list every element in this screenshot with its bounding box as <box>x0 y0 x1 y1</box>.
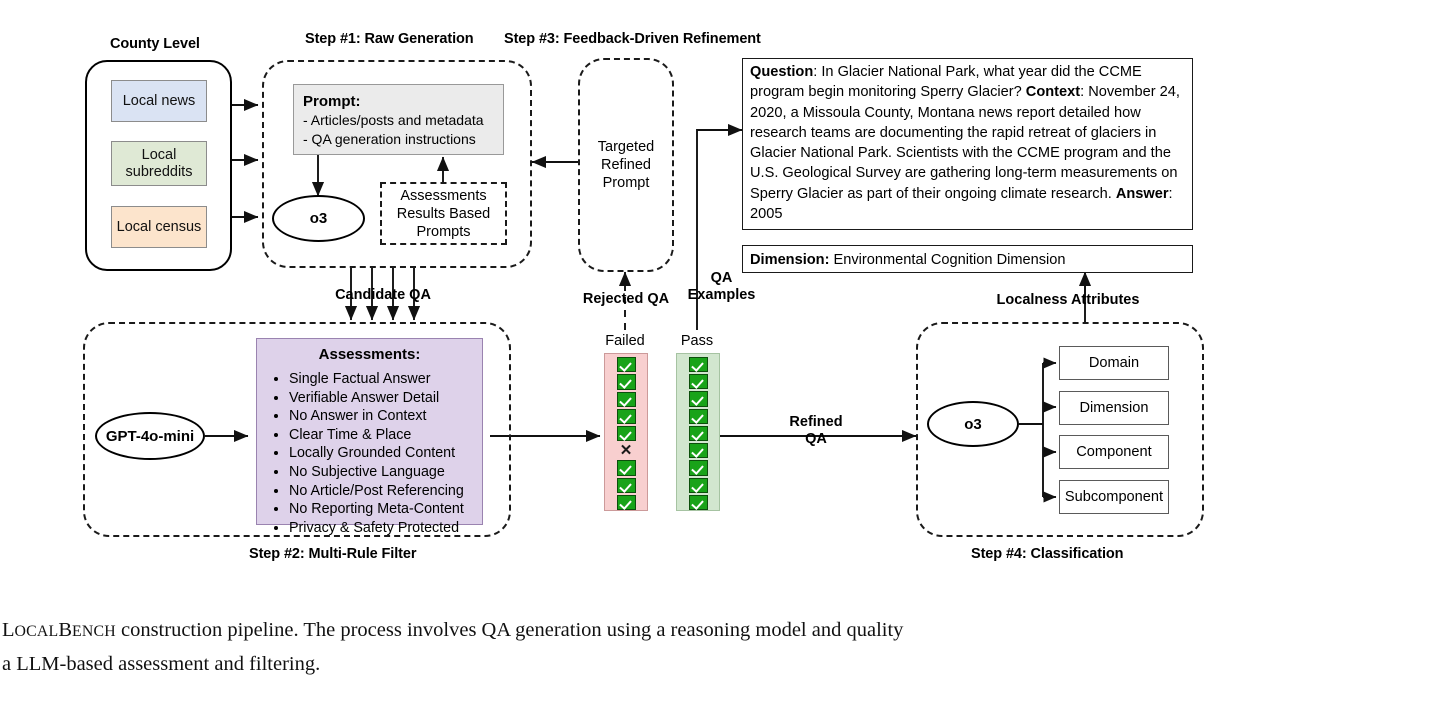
class-output-subcomponent: Subcomponent <box>1059 480 1169 514</box>
class-output-dimension-label: Dimension <box>1080 400 1149 416</box>
class-output-component: Component <box>1059 435 1169 469</box>
class-output-dimension: Dimension <box>1059 391 1169 425</box>
brand-bench-rest: ENCH <box>72 623 116 640</box>
arrow-gpt-to-assessments <box>200 420 260 452</box>
targeted-refined-prompt-box: Targeted Refined Prompt <box>578 58 674 272</box>
check-icon <box>689 357 708 372</box>
assessment-item: No Article/Post Referencing <box>289 482 472 501</box>
source-local-news[interactable]: Local news <box>111 80 207 122</box>
assessment-item: Verifiable Answer Detail <box>289 389 472 408</box>
check-icon <box>617 495 636 510</box>
assessments-results-label: Assessments Results Based Prompts <box>382 187 505 241</box>
rejected-qa-label: Rejected QA <box>576 291 676 308</box>
check-icon <box>689 426 708 441</box>
classification-model-label: o3 <box>964 416 982 433</box>
check-icon <box>689 443 708 458</box>
refined-qa-label-line2: QA <box>776 431 856 448</box>
assessment-item: Privacy & Safety Protected <box>289 519 472 538</box>
prompt-title: Prompt: <box>303 92 494 111</box>
source-local-census[interactable]: Local census <box>111 206 207 248</box>
source-local-subreddits[interactable]: Local subreddits <box>111 141 207 186</box>
brand-bench-cap: B <box>58 619 72 641</box>
check-icon <box>689 495 708 510</box>
check-icon <box>689 478 708 493</box>
failed-column-label: Failed <box>600 333 650 349</box>
classification-model-o3: o3 <box>927 401 1019 447</box>
assessment-item: No Answer in Context <box>289 407 472 426</box>
prompt-line-2: - QA generation instructions <box>303 130 494 149</box>
assessments-list: Single Factual Answer Verifiable Answer … <box>267 370 472 537</box>
check-icon <box>617 460 636 475</box>
check-icon <box>617 392 636 407</box>
assessment-item: Clear Time & Place <box>289 426 472 445</box>
check-icon <box>617 357 636 372</box>
caption-line-2: a LLM-based assessment and filtering. <box>2 648 320 681</box>
dimension-text: Environmental Cognition Dimension <box>829 252 1065 268</box>
generation-model-label: o3 <box>310 210 328 227</box>
targeted-refined-prompt-label: Targeted Refined Prompt <box>580 138 672 192</box>
prompt-box: Prompt: - Articles/posts and metadata - … <box>293 84 504 155</box>
assessments-results-box: Assessments Results Based Prompts <box>380 182 507 245</box>
check-icon <box>617 409 636 424</box>
assessment-item: Single Factual Answer <box>289 370 472 389</box>
qa-example-box: Question: In Glacier National Park, what… <box>742 58 1193 230</box>
filter-model-label: GPT-4o-mini <box>106 428 194 445</box>
class-output-domain-label: Domain <box>1089 355 1139 371</box>
context-text: : November 24, 2020, a Missoula County, … <box>750 84 1180 201</box>
check-icon <box>617 478 636 493</box>
dimension-label: Dimension: <box>750 252 829 268</box>
question-label: Question <box>750 64 813 80</box>
source-local-news-label: Local news <box>123 93 196 110</box>
step2-title: Step #2: Multi-Rule Filter <box>249 546 416 562</box>
figure-canvas: Step #1: Raw Generation Step #3: Feedbac… <box>0 0 1442 711</box>
class-output-domain: Domain <box>1059 346 1169 380</box>
prompt-line-1: - Articles/posts and metadata <box>303 111 494 130</box>
check-icon <box>689 460 708 475</box>
dimension-box: Dimension: Environmental Cognition Dimen… <box>742 245 1193 273</box>
step4-title: Step #4: Classification <box>971 546 1123 562</box>
check-icon <box>689 374 708 389</box>
assessments-title: Assessments: <box>267 346 472 363</box>
assessments-box: Assessments: Single Factual Answer Verif… <box>256 338 483 525</box>
check-icon <box>617 426 636 441</box>
assessment-item: No Subjective Language <box>289 463 472 482</box>
pass-stack <box>676 353 720 511</box>
failed-stack: ✕ <box>604 353 648 511</box>
filter-model-gpt4omini: GPT-4o-mini <box>95 412 205 460</box>
refined-qa-label-line1: Refined <box>776 414 856 431</box>
pass-column-label: Pass <box>672 333 722 349</box>
caption-line-1: LOCALBENCH construction pipeline. The pr… <box>2 614 903 648</box>
caption-line-1-tail: construction pipeline. The process invol… <box>116 619 904 641</box>
check-icon <box>617 374 636 389</box>
candidate-qa-label: Candidate QA <box>328 287 438 304</box>
county-level-title: County Level <box>110 36 200 52</box>
brand-local-cap: L <box>2 619 15 641</box>
answer-label: Answer <box>1116 186 1169 202</box>
source-local-census-label: Local census <box>117 219 202 236</box>
x-icon: ✕ <box>618 443 635 458</box>
class-output-component-label: Component <box>1076 444 1151 460</box>
qa-example-text: Question: In Glacier National Park, what… <box>750 62 1186 224</box>
assessment-item: Locally Grounded Content <box>289 444 472 463</box>
brand-local-rest: OCAL <box>15 623 59 640</box>
qa-examples-label-line2: Examples <box>679 287 764 304</box>
step1-title: Step #1: Raw Generation <box>305 31 474 47</box>
step3-title: Step #3: Feedback-Driven Refinement <box>504 31 761 47</box>
class-output-subcomponent-label: Subcomponent <box>1065 489 1163 505</box>
check-icon <box>689 409 708 424</box>
localness-attributes-label: Localness Attributes <box>988 292 1148 309</box>
source-local-subreddits-label: Local subreddits <box>112 147 206 181</box>
generation-model-o3: o3 <box>272 195 365 242</box>
check-icon <box>689 391 708 406</box>
context-label: Context <box>1026 84 1080 100</box>
assessment-item: No Reporting Meta-Content <box>289 500 472 519</box>
